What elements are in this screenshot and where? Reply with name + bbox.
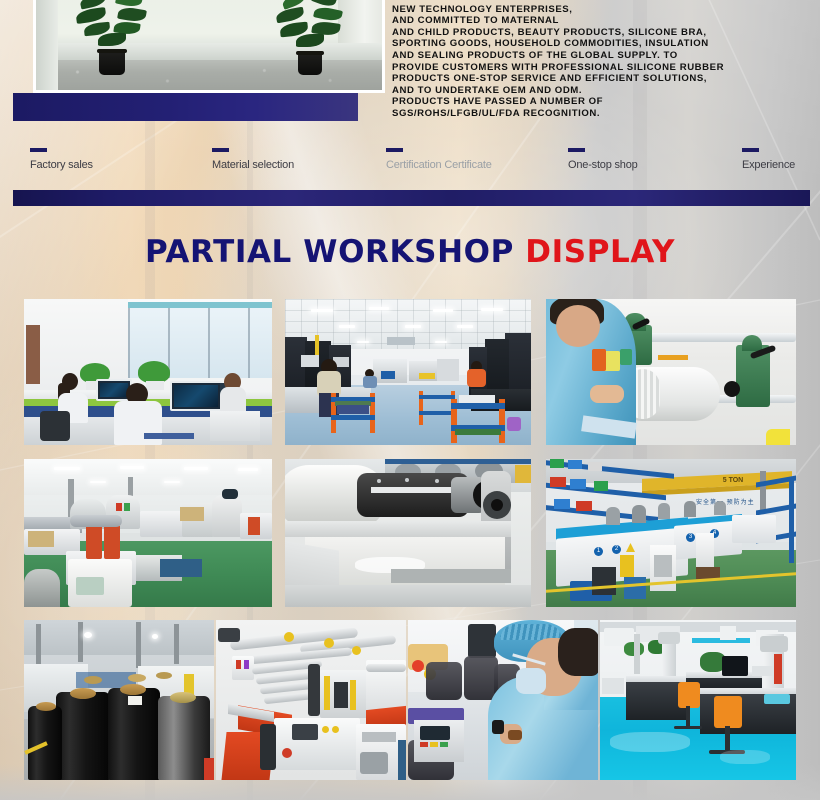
machine-badge-1: 1	[594, 547, 603, 556]
machine-badge-2: 2	[612, 545, 621, 554]
gallery-photo-design-office-workstations[interactable]	[24, 299, 272, 445]
gallery-photo-material-roll-warehouse[interactable]	[24, 620, 214, 780]
page-root: SILICONE RUBBER PRODUCTS OF NEW TECHNOLO…	[0, 0, 820, 800]
gallery-photo-extrusion-production-line[interactable]	[24, 459, 272, 607]
workshop-gallery: 5 TON 安全第一 预防为主 1 2	[0, 0, 820, 800]
gallery-photo-cnc-tooling-workshop[interactable]	[285, 299, 531, 445]
gallery-photo-injection-molding-hall[interactable]: 5 TON 安全第一 预防为主 1 2	[546, 459, 796, 607]
gallery-photo-quality-measurement-lab[interactable]	[600, 620, 796, 780]
gallery-photo-calender-roller-closeup[interactable]	[285, 459, 531, 607]
gallery-photo-silicone-forming-operator[interactable]	[546, 299, 796, 445]
gallery-photo-qc-inspection-weighing[interactable]	[408, 620, 598, 780]
machine-badge-3: 3	[686, 533, 695, 542]
gallery-photo-printing-converting-machine[interactable]	[216, 620, 406, 780]
crane-capacity-label: 5 TON	[716, 476, 750, 485]
